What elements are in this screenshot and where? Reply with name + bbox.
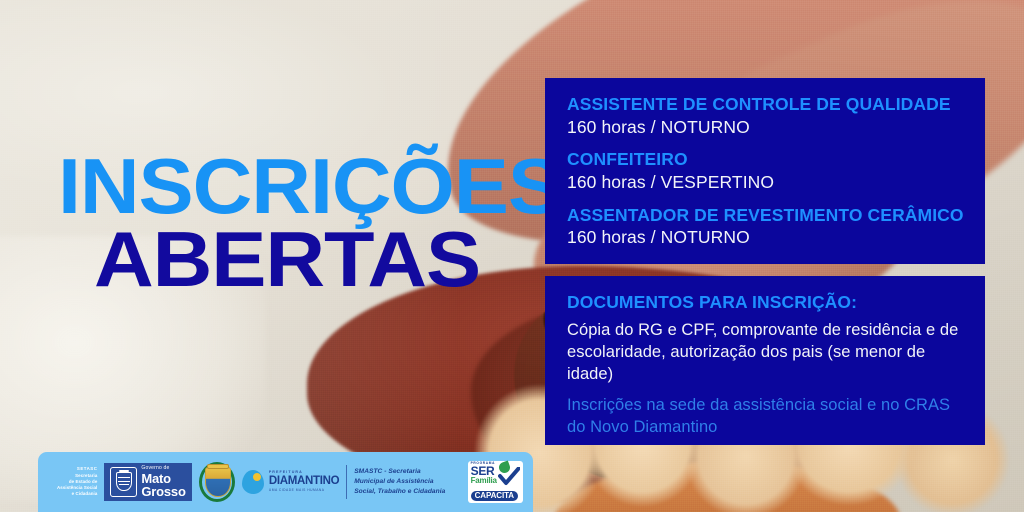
documents-panel: DOCUMENTOS PARA INSCRIÇÃO: Cópia do RG e… bbox=[545, 276, 985, 445]
documents-body: Cópia do RG e CPF, comprovante de residê… bbox=[567, 319, 965, 385]
mato-grosso-line-2: Grosso bbox=[141, 485, 185, 498]
diamantino-prefix: PREFEITURA bbox=[269, 471, 339, 475]
course-title: ASSENTADOR DE REVESTIMENTO CERÂMICO bbox=[567, 205, 965, 226]
headline-line-1: INSCRIÇÕES bbox=[58, 152, 562, 221]
shield-bar bbox=[118, 481, 130, 482]
footer-divider bbox=[346, 465, 347, 499]
courses-panel: ASSISTENTE DE CONTROLE DE QUALIDADE 160 … bbox=[545, 78, 985, 264]
course-meta: 160 horas / NOTURNO bbox=[567, 226, 965, 249]
shield-bar bbox=[118, 477, 130, 478]
crest-bar-shape bbox=[207, 464, 229, 469]
dot-shape bbox=[253, 473, 261, 481]
mato-grosso-logo: Governo de Mato Grosso bbox=[104, 463, 191, 501]
capacita-label: CAPACITA bbox=[471, 491, 518, 501]
diamantino-logo: PREFEITURA DIAMANTINO UMA CIDADE MAIS HU… bbox=[242, 470, 339, 494]
shield-bar bbox=[119, 484, 129, 485]
checkmark-icon bbox=[498, 467, 520, 487]
course-item: CONFEITEIRO 160 horas / VESPERTINO bbox=[567, 149, 965, 193]
shield-shape bbox=[205, 467, 231, 497]
headline-line-2: ABERTAS bbox=[94, 225, 560, 294]
mato-grosso-coat-of-arms-icon bbox=[110, 467, 137, 497]
course-item: ASSISTENTE DE CONTROLE DE QUALIDADE 160 … bbox=[567, 94, 965, 138]
course-meta: 160 horas / VESPERTINO bbox=[567, 171, 965, 194]
footer-logo-bar: SETASC Secretaria de Estado de Assistênc… bbox=[38, 452, 533, 512]
course-item: ASSENTADOR DE REVESTIMENTO CERÂMICO 160 … bbox=[567, 205, 965, 249]
mato-grosso-wordmark: Governo de Mato Grosso bbox=[141, 466, 185, 498]
diamantino-coat-of-arms-icon bbox=[199, 462, 235, 502]
smastc-line-2: Municipal de Assistência bbox=[354, 477, 460, 487]
setasc-line-4: e Cidadania bbox=[48, 491, 97, 497]
diamantino-tagline: UMA CIDADE MAIS HUMANA bbox=[269, 489, 339, 492]
diamantino-mark-icon bbox=[242, 470, 264, 494]
smastc-text-block: SMASTC - Secretaria Municipal de Assistê… bbox=[354, 467, 460, 497]
setasc-text-block: SETASC Secretaria de Estado de Assistênc… bbox=[48, 466, 97, 497]
smastc-line-3: Social, Trabalho e Cidadania bbox=[354, 487, 460, 497]
ser-familia-capacita-badge: PROGRAMA SER Família CAPACITA bbox=[468, 461, 523, 503]
headline: INSCRIÇÕES ABERTAS bbox=[58, 152, 533, 293]
diamantino-wordmark: PREFEITURA DIAMANTINO UMA CIDADE MAIS HU… bbox=[269, 471, 339, 492]
course-meta: 160 horas / NOTURNO bbox=[567, 116, 965, 139]
documents-title: DOCUMENTOS PARA INSCRIÇÃO: bbox=[567, 292, 965, 313]
course-title: CONFEITEIRO bbox=[567, 149, 965, 170]
diamantino-name: DIAMANTINO bbox=[269, 476, 339, 488]
smastc-line-1: SMASTC - Secretaria bbox=[354, 467, 460, 477]
course-title: ASSISTENTE DE CONTROLE DE QUALIDADE bbox=[567, 94, 965, 115]
documents-note: Inscrições na sede da assistência social… bbox=[567, 394, 965, 438]
